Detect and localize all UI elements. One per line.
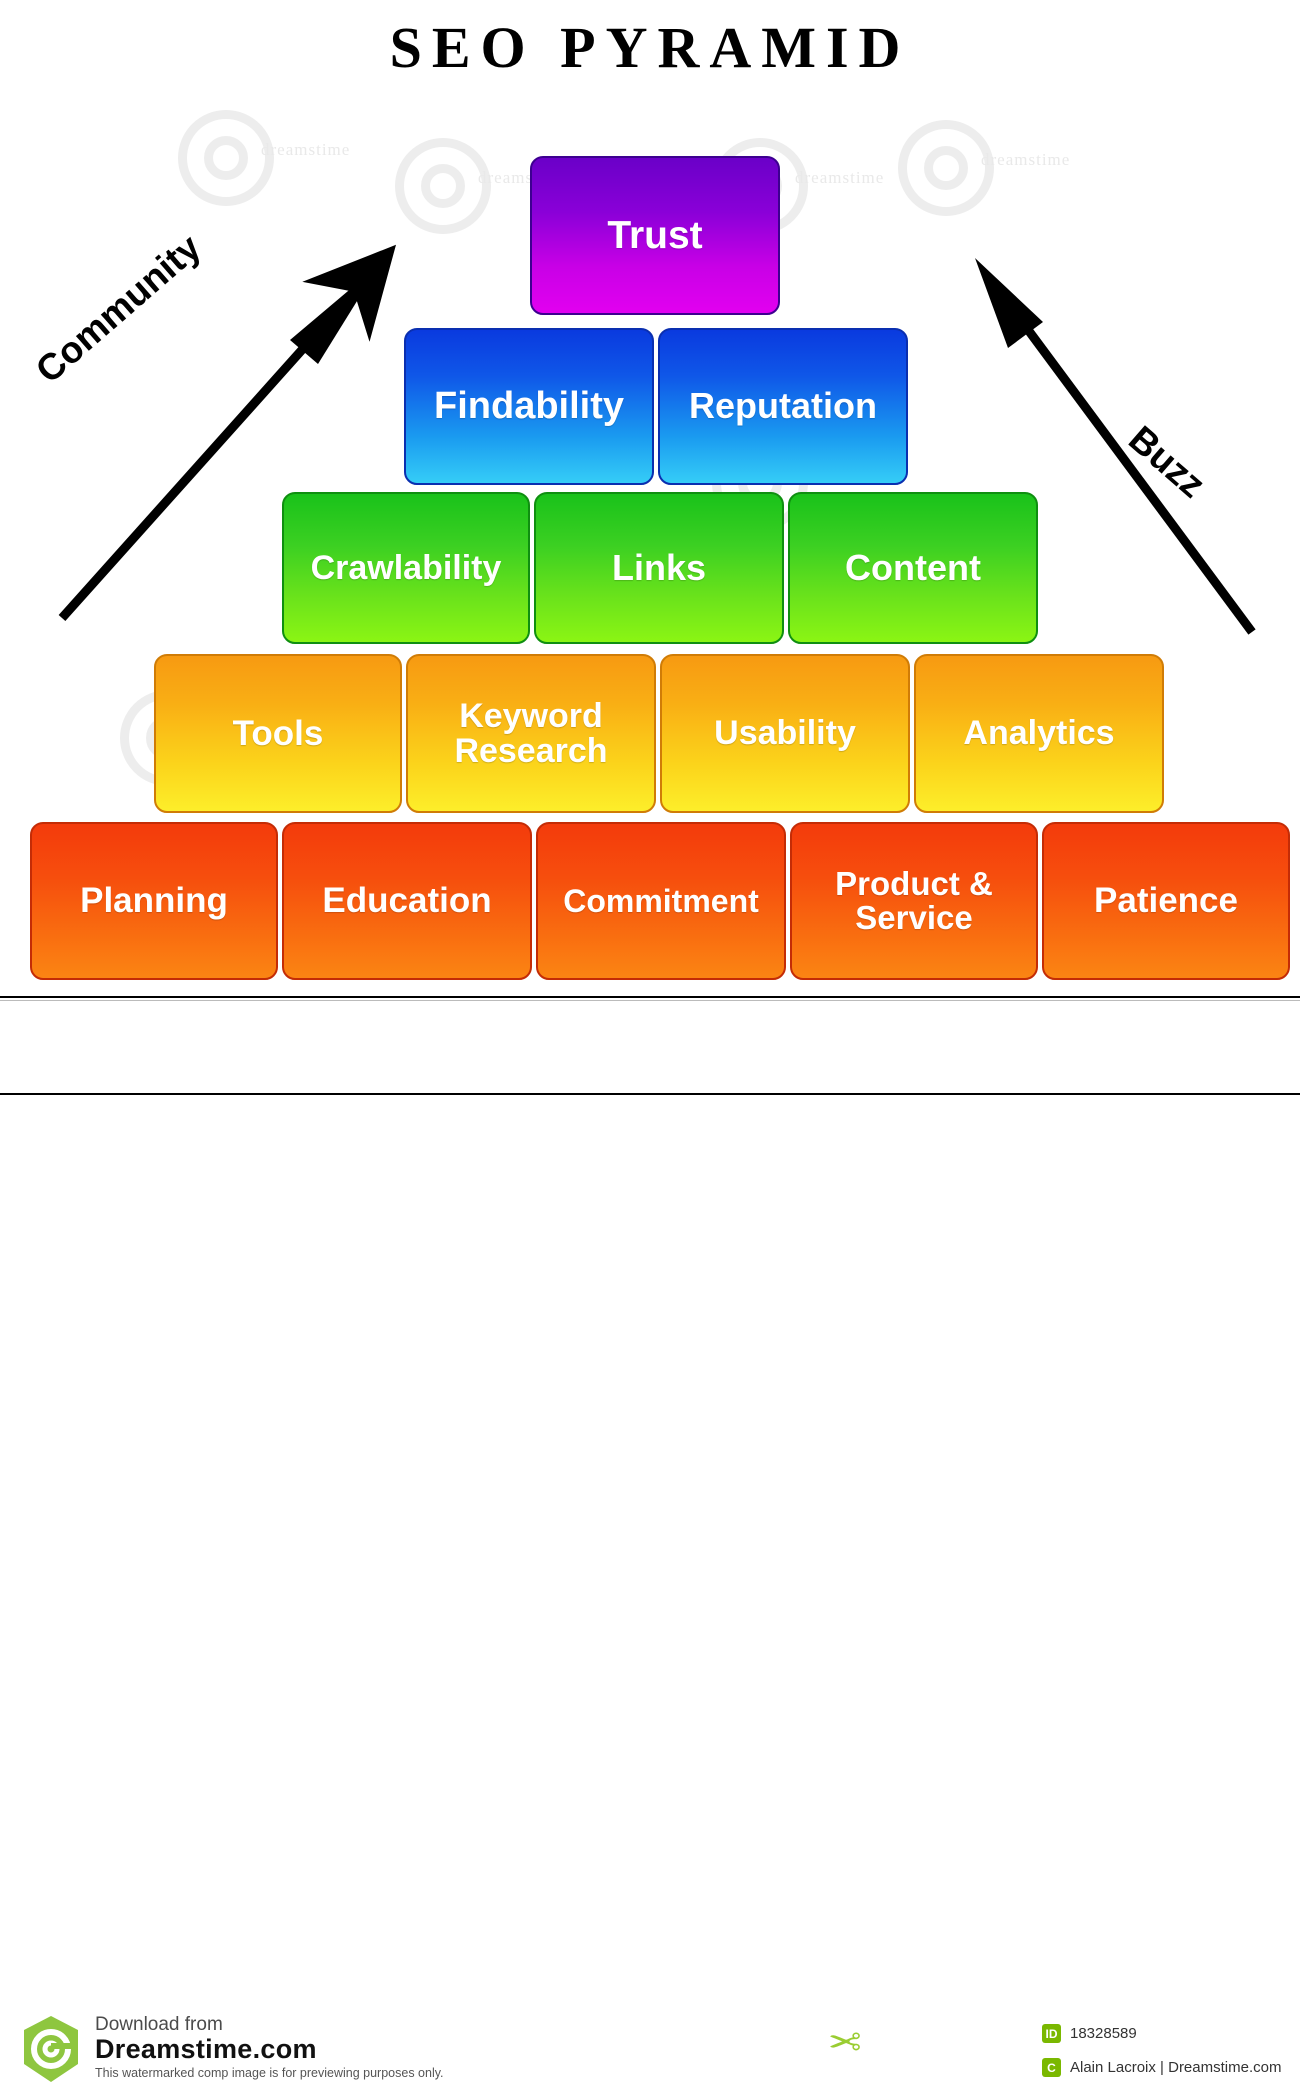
pyramid-block-crawlability[interactable]: Crawlability	[282, 492, 530, 644]
pyramid-block-label: Reputation	[683, 388, 883, 425]
pyramid-block-keyword-research[interactable]: Keyword Research	[406, 654, 656, 813]
footer-divider-secondary	[0, 1000, 1300, 1001]
pyramid-block-reputation[interactable]: Reputation	[658, 328, 908, 485]
pyramid-block-content[interactable]: Content	[788, 492, 1038, 644]
pyramid-block-label: Planning	[74, 883, 234, 919]
pyramid-block-label: Analytics	[957, 716, 1120, 751]
pyramid-level-foundation: Planning Education Commitment Product & …	[30, 822, 1290, 980]
watermark-note: This watermarked comp image is for previ…	[95, 2066, 444, 2080]
footer-divider	[0, 996, 1300, 998]
pyramid-block-label: Links	[606, 550, 712, 587]
pyramid-level-crawlability-links-content: Crawlability Links Content	[282, 492, 1038, 644]
pyramid-level-tools-keyword-usability-analytics: Tools Keyword Research Usability Analyti…	[154, 654, 1164, 813]
footer-text-block: Download from Dreamstime.com This waterm…	[95, 2014, 444, 2080]
pyramid-block-links[interactable]: Links	[534, 492, 784, 644]
footer: Download from Dreamstime.com This waterm…	[0, 1002, 1300, 1095]
copyright-badge-icon: C	[1042, 2058, 1061, 2077]
site-name: Dreamstime.com	[95, 2034, 444, 2065]
id-badge-icon: ID	[1042, 2024, 1061, 2043]
pyramid-block-label: Patience	[1088, 883, 1244, 919]
pyramid-block-trust[interactable]: Trust	[530, 156, 780, 315]
pyramid-block-education[interactable]: Education	[282, 822, 532, 980]
pyramid-block-label: Product & Service	[792, 867, 1036, 934]
pyramid-block-label: Content	[839, 550, 987, 587]
pyramid-block-patience[interactable]: Patience	[1042, 822, 1290, 980]
copyright-value: Alain Lacroix | Dreamstime.com	[1070, 2059, 1281, 2076]
pyramid-block-label: Tools	[227, 716, 330, 752]
image-id-value: 18328589	[1070, 2025, 1137, 2042]
download-from-label: Download from	[95, 2014, 444, 2036]
pyramid-block-findability[interactable]: Findability	[404, 328, 654, 485]
copyright-row: C Alain Lacroix | Dreamstime.com	[1042, 2058, 1281, 2077]
pyramid-block-label: Crawlability	[305, 551, 508, 586]
pyramid-block-label: Keyword Research	[408, 699, 654, 768]
pyramid-block-label: Education	[316, 883, 497, 919]
pyramid-block-label: Usability	[708, 716, 862, 751]
pyramid-block-usability[interactable]: Usability	[660, 654, 910, 813]
pyramid-block-analytics[interactable]: Analytics	[914, 654, 1164, 813]
pyramid-block-label: Commitment	[557, 885, 765, 918]
pyramid-block-planning[interactable]: Planning	[30, 822, 278, 980]
pyramid-block-commitment[interactable]: Commitment	[536, 822, 786, 980]
pyramid-block-label: Trust	[601, 216, 708, 256]
scissors-icon: ✂	[828, 2020, 862, 2066]
dreamstime-logo-icon	[22, 2014, 80, 2084]
pyramid-block-tools[interactable]: Tools	[154, 654, 402, 813]
seo-pyramid-diagram: SEO PYRAMID dreamstime dreamstime dreams…	[0, 0, 1300, 1095]
pyramid-block-product-service[interactable]: Product & Service	[790, 822, 1038, 980]
pyramid-level-findability-reputation: Findability Reputation	[404, 328, 908, 485]
pyramid-block-label: Findability	[428, 387, 630, 426]
image-id-row: ID 18328589	[1042, 2024, 1137, 2043]
pyramid-level-trust: Trust	[530, 156, 780, 315]
